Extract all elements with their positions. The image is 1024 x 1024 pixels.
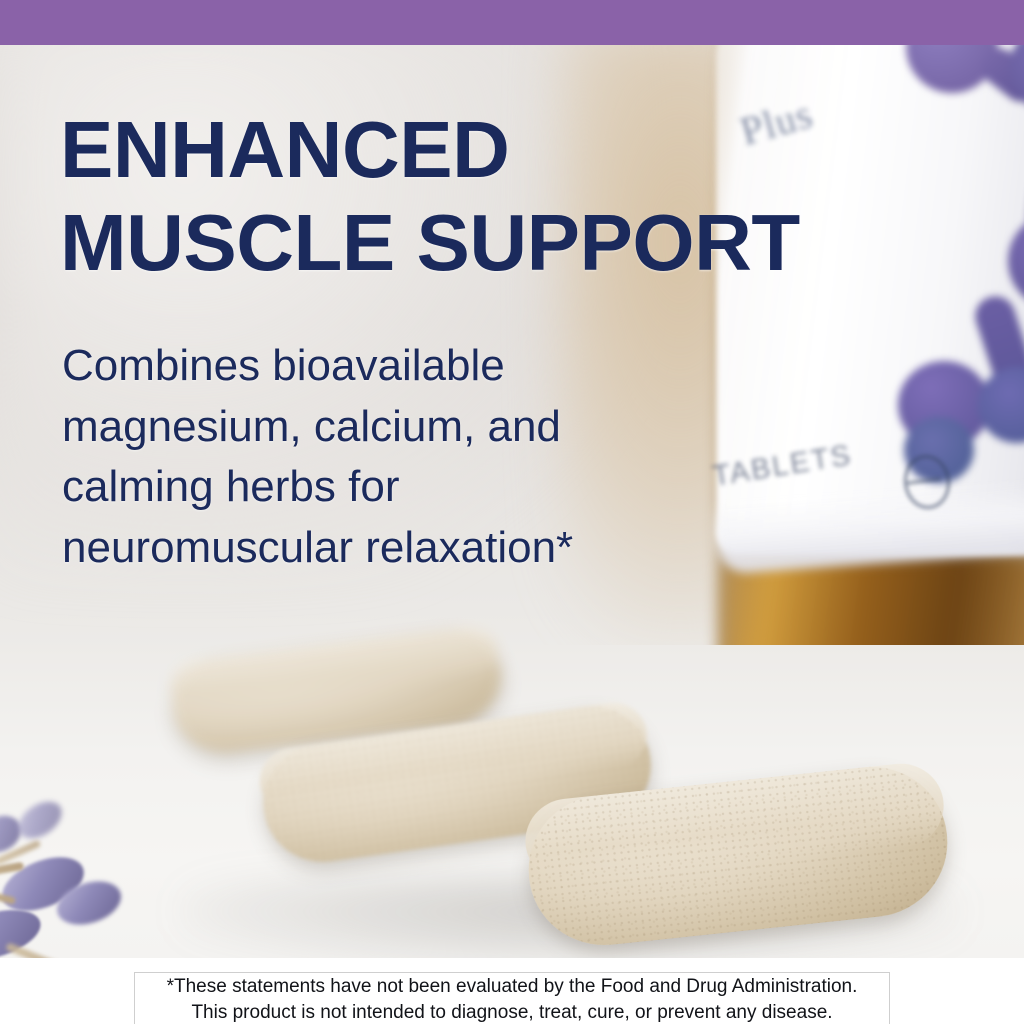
disclaimer-line-1: *These statements have not been evaluate… — [167, 974, 858, 1000]
subheadline-line-2: magnesium, calcium, and — [62, 397, 722, 458]
subheadline: Combines bioavailable magnesium, calcium… — [62, 336, 722, 579]
footer: *These statements have not been evaluate… — [0, 958, 1024, 1024]
subheadline-line-3: calming herbs for — [62, 457, 722, 518]
product-banner: Plus TABLETS — [0, 0, 1024, 1024]
lavender-sprigs — [0, 805, 180, 958]
subheadline-line-1: Combines bioavailable — [62, 336, 722, 397]
headline: ENHANCED MUSCLE SUPPORT — [60, 104, 890, 290]
top-accent-band — [0, 0, 1024, 45]
disclaimer-line-2: This product is not intended to diagnose… — [191, 1000, 832, 1024]
headline-line-1: ENHANCED — [60, 104, 890, 197]
headline-line-2: MUSCLE SUPPORT — [60, 197, 890, 290]
subheadline-line-4: neuromuscular relaxation* — [62, 518, 722, 579]
fda-disclaimer-box: *These statements have not been evaluate… — [134, 972, 890, 1024]
